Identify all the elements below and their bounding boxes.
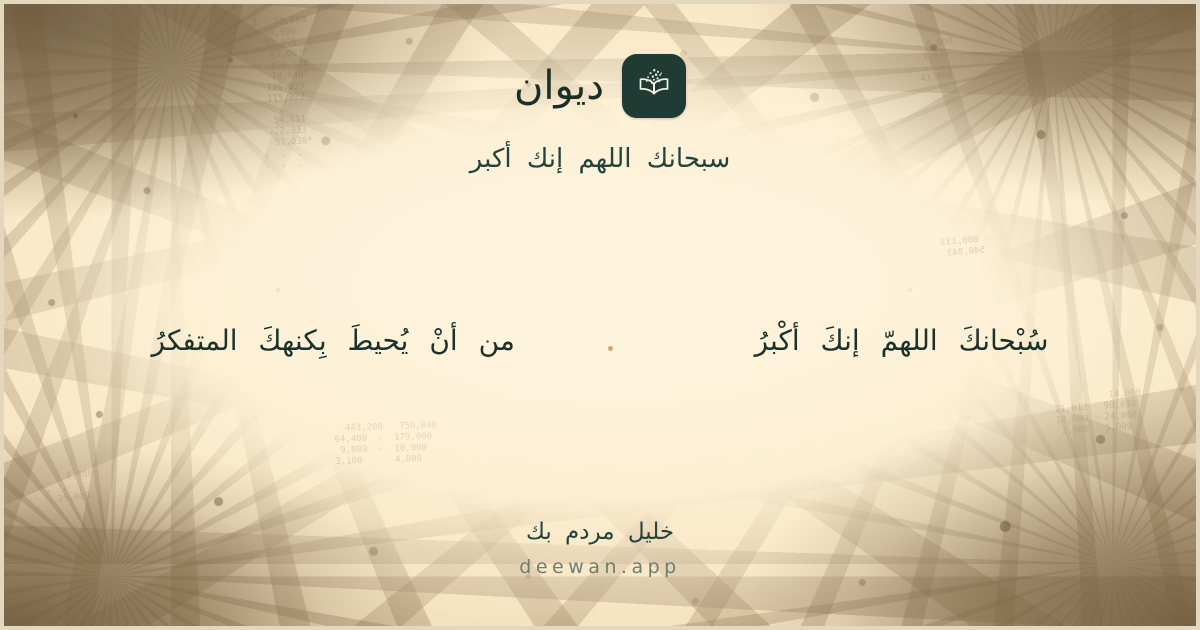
card-footer: خليل مردم بك deewan.app (519, 519, 680, 578)
site-url[interactable]: deewan.app (519, 556, 680, 578)
brand-header[interactable]: ديوان (514, 54, 686, 118)
poet-name: خليل مردم بك (519, 519, 680, 545)
poem-card: 10,000 - 1 40,900 43,095 *45,007 #80,520… (0, 0, 1200, 630)
poem-body: سُبْحانكَ اللهمّ إنكَ أكْبرُ من أنْ يُحي… (4, 174, 1196, 519)
open-book-sparkles-icon (622, 54, 686, 118)
card-content: ديوان سبحانك اللهم إنك أكبر سُبْحانكَ ال… (4, 4, 1196, 626)
tagline: سبحانك اللهم إنك أكبر (470, 144, 730, 174)
hemistich-second: من أنْ يُحيطَ بِكنهكَ المتفكرُ (152, 324, 590, 357)
verse-line: سُبْحانكَ اللهمّ إنكَ أكْبرُ من أنْ يُحي… (152, 324, 1049, 357)
verse-separator-dot (608, 346, 613, 351)
brand-name: ديوان (514, 66, 604, 106)
hemistich-first: سُبْحانكَ اللهمّ إنكَ أكْبرُ (631, 324, 1049, 357)
